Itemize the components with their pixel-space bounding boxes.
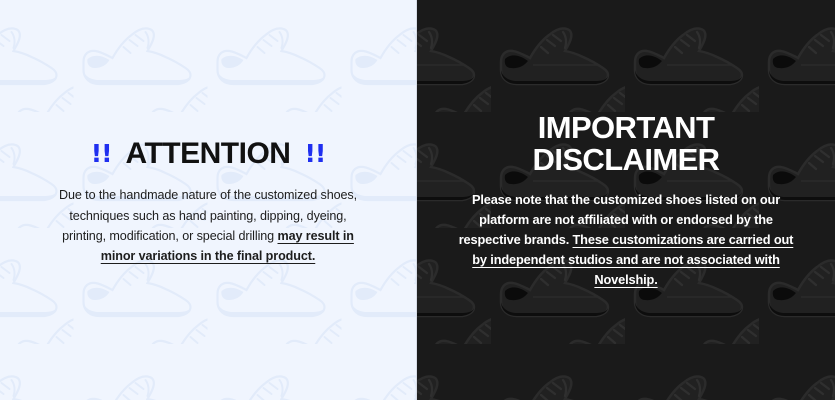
disclaimer-content: IMPORTANT DISCLAIMER Please note that th… xyxy=(417,112,835,290)
disclaimer-title: IMPORTANT DISCLAIMER xyxy=(457,112,795,175)
attention-content: !! ATTENTION !! Due to the handmade natu… xyxy=(0,139,416,267)
disclaimer-body: Please note that the customized shoes li… xyxy=(457,190,795,290)
disclaimer-title-line-2: DISCLAIMER xyxy=(457,144,795,176)
disclaimer-panel: IMPORTANT DISCLAIMER Please note that th… xyxy=(417,0,835,400)
disclaimer-title-line-1: IMPORTANT xyxy=(457,112,795,144)
customization-notice-banner: !! ATTENTION !! Due to the handmade natu… xyxy=(0,0,835,400)
attention-title: ATTENTION xyxy=(126,139,291,169)
exclamation-right-icon: !! xyxy=(304,141,325,166)
attention-heading-row: !! ATTENTION !! xyxy=(46,139,370,169)
attention-panel: !! ATTENTION !! Due to the handmade natu… xyxy=(0,0,417,400)
attention-body: Due to the handmade nature of the custom… xyxy=(46,185,370,267)
exclamation-left-icon: !! xyxy=(91,141,112,166)
